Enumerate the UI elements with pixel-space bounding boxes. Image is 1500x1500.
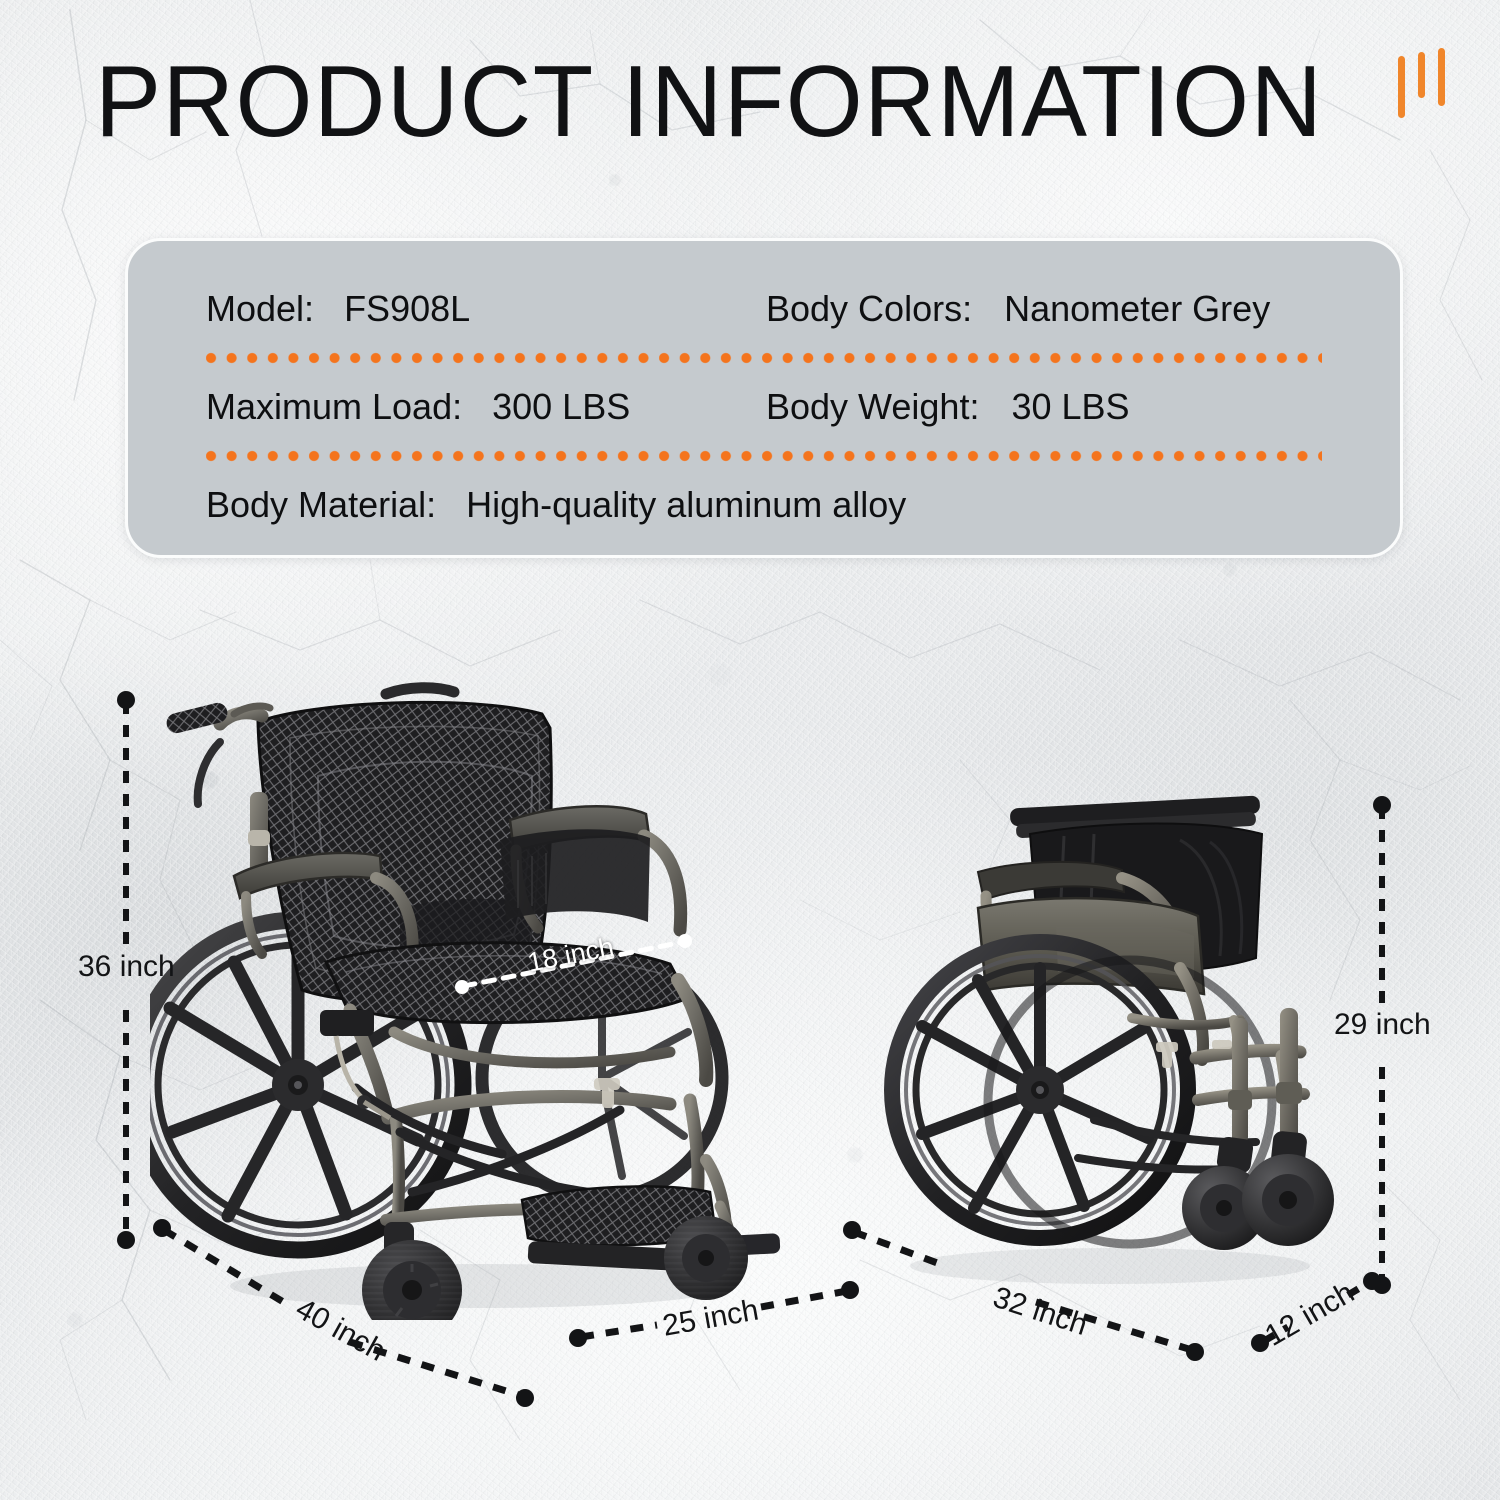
spec-value-body-weight: 30 LBS bbox=[1011, 386, 1129, 428]
logo-bar-1 bbox=[1398, 56, 1405, 118]
spec-cell-body-material: Body Material: High-quality aluminum all… bbox=[206, 484, 766, 526]
spec-cell-body-weight: Body Weight: 30 LBS bbox=[766, 386, 1400, 428]
dimension-label-36-inch: 36 inch bbox=[78, 950, 175, 984]
spec-cell-model: Model: FS908L bbox=[206, 288, 766, 330]
three-bar-logo-icon bbox=[1396, 48, 1462, 120]
spec-value-maximum-load: 300 LBS bbox=[492, 386, 630, 428]
spec-key-body-weight: Body Weight: bbox=[766, 386, 979, 428]
spec-row-maximum-load: Maximum Load: 300 LBS Body Weight: 30 LB… bbox=[128, 369, 1400, 445]
specification-rows: Model: FS908L Body Colors: Nanometer Gre… bbox=[128, 241, 1400, 555]
spec-cell-maximum-load: Maximum Load: 300 LBS bbox=[206, 386, 766, 428]
dotted-divider-2 bbox=[206, 445, 1322, 467]
page-title: PRODUCT INFORMATION bbox=[95, 52, 1324, 153]
wheelchair-side-folded-view bbox=[880, 790, 1350, 1290]
spec-cell-body-colors: Body Colors: Nanometer Grey bbox=[766, 288, 1400, 330]
spec-key-body-colors: Body Colors: bbox=[766, 288, 972, 330]
spec-key-maximum-load: Maximum Load: bbox=[206, 386, 462, 428]
logo-bar-3 bbox=[1438, 48, 1445, 106]
spec-row-body-material: Body Material: High-quality aluminum all… bbox=[128, 467, 1400, 543]
spec-key-body-material: Body Material: bbox=[206, 484, 436, 526]
product-information-infographic: PRODUCT INFORMATION Model: FS908L Body C… bbox=[0, 0, 1500, 1500]
spec-row-model: Model: FS908L Body Colors: Nanometer Gre… bbox=[128, 271, 1400, 347]
spec-key-model: Model: bbox=[206, 288, 314, 330]
spec-value-model: FS908L bbox=[344, 288, 470, 330]
wheelchair-front-three-quarter-view bbox=[150, 680, 790, 1320]
spec-value-body-material: High-quality aluminum alloy bbox=[466, 484, 906, 526]
spec-value-body-colors: Nanometer Grey bbox=[1004, 288, 1270, 330]
dimension-label-29-inch: 29 inch bbox=[1334, 1008, 1431, 1042]
dotted-divider-1 bbox=[206, 347, 1322, 369]
specification-panel: Model: FS908L Body Colors: Nanometer Gre… bbox=[125, 238, 1403, 558]
logo-bar-2 bbox=[1418, 52, 1425, 98]
